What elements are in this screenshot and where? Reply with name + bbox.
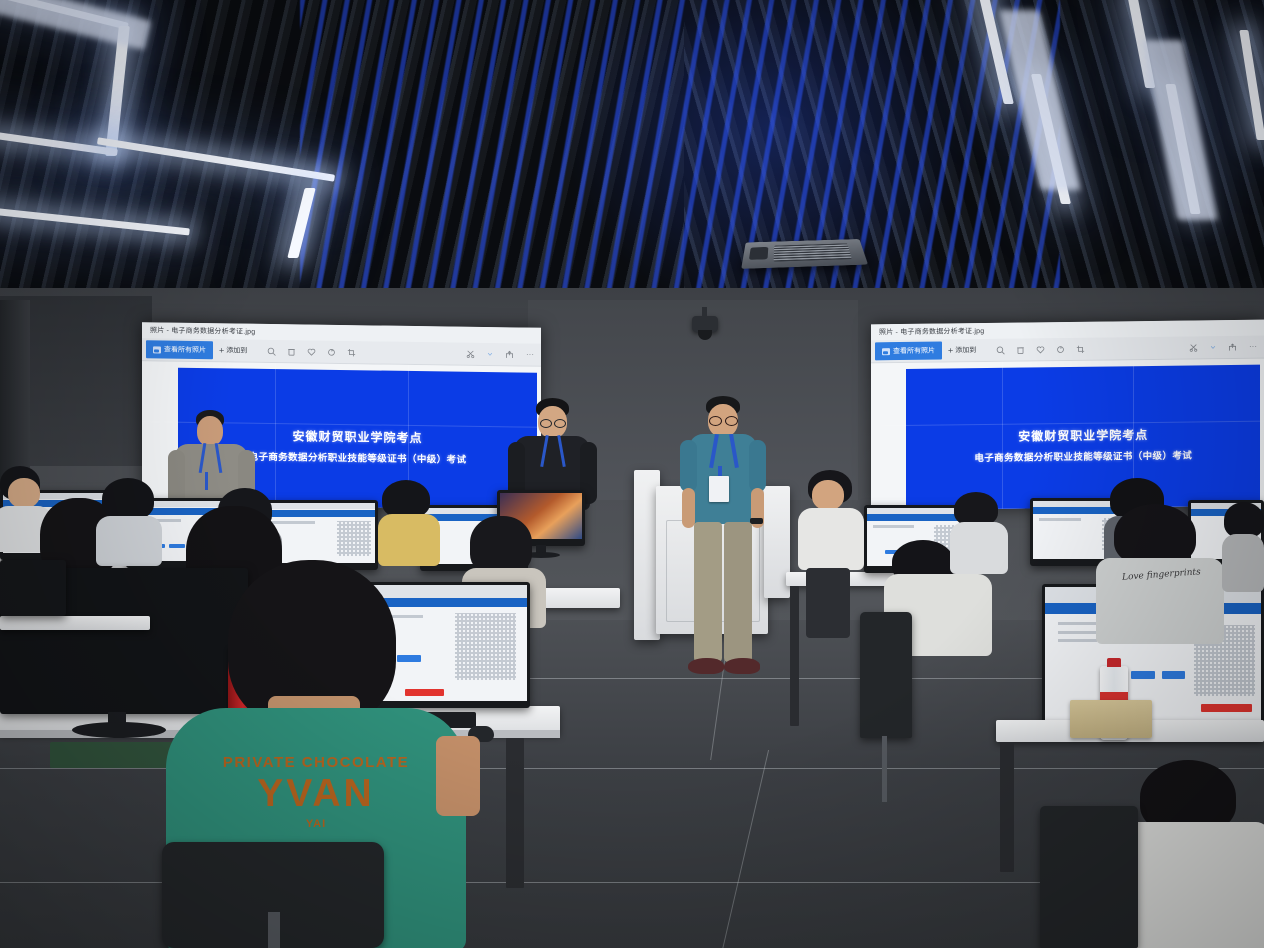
photo-viewer-canvas-right: 安徽财贸职业学院考点 电子商务数据分析职业技能等级证书（中级）考试 bbox=[871, 359, 1264, 511]
toolbar-icon-group-right-wall bbox=[996, 344, 1085, 354]
s3-torso bbox=[96, 516, 162, 566]
view-all-photos-label-right: 查看所有照片 bbox=[893, 346, 935, 357]
s3-hair bbox=[102, 478, 154, 520]
desk-foreground-left-leg bbox=[506, 738, 524, 888]
slide-text-block-right: 安徽财贸职业学院考点 电子商务数据分析职业技能等级证书（中级）考试 bbox=[906, 424, 1260, 464]
chevron-down-icon[interactable] bbox=[487, 351, 493, 357]
proctor3-shoe-right bbox=[724, 658, 760, 674]
exam-room-photo: 照片 - 电子商务数据分析考证.jpg 查看所有照片 + 添加到 bbox=[0, 0, 1264, 948]
student-right-1 bbox=[798, 470, 868, 590]
sr1-head bbox=[812, 480, 844, 510]
add-to-button[interactable]: + 添加到 bbox=[213, 342, 253, 359]
air-conditioner-unit bbox=[741, 239, 868, 269]
edit-scissors-icon[interactable] bbox=[466, 349, 475, 358]
proctor3-forearm-left bbox=[682, 488, 695, 528]
sr7-torso bbox=[1124, 822, 1264, 948]
proctor3-glasses-right bbox=[725, 416, 738, 426]
sr6-torso bbox=[1222, 534, 1264, 592]
zoom-icon-right[interactable] bbox=[996, 345, 1005, 354]
water-bottle-cap bbox=[1107, 658, 1121, 667]
chair-foreground-post bbox=[268, 912, 280, 948]
student-right-7 bbox=[1150, 760, 1264, 948]
sr3-hair bbox=[954, 492, 998, 526]
videowall-seam-rv1 bbox=[1002, 362, 1003, 510]
ac-vent bbox=[749, 247, 768, 260]
photos-icon bbox=[153, 346, 161, 353]
submit-exam-button-rf[interactable] bbox=[1201, 704, 1253, 712]
favorite-heart-icon[interactable] bbox=[307, 347, 316, 356]
answer-grid-3 bbox=[337, 521, 371, 556]
prev-question-button-rf[interactable] bbox=[1131, 671, 1155, 679]
videowall-seam-v1 bbox=[275, 363, 276, 507]
desk-right-foreground-leg bbox=[1000, 742, 1014, 872]
zoom-icon[interactable] bbox=[267, 346, 276, 355]
tee-line-1: PRIVATE CHOCOLATE bbox=[166, 754, 466, 771]
ceiling bbox=[0, 0, 1264, 300]
crop-icon[interactable] bbox=[347, 348, 356, 357]
photo-viewer-title-right: 照片 - 电子商务数据分析考证.jpg bbox=[879, 326, 984, 337]
student-right-5-love-fingerprints: Love fingerprints bbox=[1096, 540, 1224, 670]
proctor3-arm-left bbox=[680, 440, 697, 492]
photos-icon-right bbox=[882, 348, 890, 355]
plus-icon-right: + bbox=[948, 346, 953, 355]
proctor3-leg-right bbox=[724, 522, 752, 662]
view-all-photos-label: 查看所有照片 bbox=[164, 345, 206, 356]
proctor1-head bbox=[197, 416, 223, 446]
view-all-photos-button[interactable]: 查看所有照片 bbox=[146, 340, 213, 359]
sr1-torso bbox=[798, 508, 864, 570]
share-icon-right[interactable] bbox=[1228, 342, 1237, 351]
scr-question-line-r2 bbox=[1039, 518, 1081, 521]
more-ellipsis-icon-right[interactable]: ··· bbox=[1249, 342, 1258, 351]
proctor3-id-badge bbox=[709, 476, 729, 502]
tee-line-2: YVAN bbox=[166, 772, 466, 816]
chair-right-1-post bbox=[882, 736, 887, 802]
scr-question-line-rf2 bbox=[1058, 631, 1097, 634]
edit-scissors-icon-right[interactable] bbox=[1189, 343, 1198, 352]
s5-hair bbox=[382, 480, 430, 518]
proctor3-leg-left bbox=[694, 522, 722, 662]
sr6-hair bbox=[1224, 502, 1264, 538]
view-all-photos-button-right[interactable]: 查看所有照片 bbox=[875, 342, 942, 361]
scr-question-line-rf3 bbox=[1058, 639, 1097, 642]
toolbar-icon-group-right-2: ··· bbox=[1189, 342, 1258, 352]
more-ellipsis-icon[interactable]: ··· bbox=[526, 350, 535, 359]
delete-icon[interactable] bbox=[287, 347, 296, 356]
student-back-left-5 bbox=[378, 480, 444, 560]
tee-line-3: YAI bbox=[166, 818, 466, 830]
proctor3-arm-right bbox=[749, 440, 766, 492]
student-back-left-3 bbox=[96, 478, 166, 558]
proctor-teal-polo bbox=[678, 396, 770, 686]
slide-image-right: 安徽财贸职业学院考点 电子商务数据分析职业技能等级证书（中级）考试 bbox=[906, 365, 1260, 511]
floor-tile-line-v2 bbox=[722, 750, 769, 948]
s5-torso bbox=[378, 514, 440, 566]
next-question-button-rf[interactable] bbox=[1162, 671, 1186, 679]
sr1-leg bbox=[806, 568, 850, 638]
add-to-button-right[interactable]: + 添加到 bbox=[942, 342, 982, 358]
slide-headline-right: 安徽财贸职业学院考点 bbox=[906, 424, 1260, 445]
proctor2-glasses-right bbox=[554, 419, 566, 428]
proctor3-watch bbox=[750, 518, 763, 524]
chair-right-1[interactable] bbox=[860, 612, 912, 738]
scr-question-line-r1 bbox=[873, 525, 914, 528]
desk-left-edge bbox=[0, 616, 150, 630]
fg-arm-right bbox=[436, 736, 480, 816]
add-to-label-right: 添加到 bbox=[955, 345, 976, 355]
student-right-6 bbox=[1222, 502, 1264, 592]
proctor1-lanyard-strap bbox=[205, 472, 208, 490]
toolbar-icon-group-right: ··· bbox=[466, 349, 535, 359]
rotate-icon-right[interactable] bbox=[1056, 345, 1065, 354]
student-right-3 bbox=[950, 492, 1012, 572]
add-to-label: 添加到 bbox=[226, 345, 247, 355]
favorite-heart-icon-right[interactable] bbox=[1036, 345, 1045, 354]
delete-icon-right[interactable] bbox=[1016, 345, 1025, 354]
monitor-left-edge bbox=[0, 560, 66, 616]
desk-right-back-leg bbox=[790, 586, 799, 726]
proctor3-shoe-left bbox=[688, 658, 724, 674]
sr5-hair bbox=[1114, 504, 1196, 566]
slide-subhead-right: 电子商务数据分析职业技能等级证书（中级）考试 bbox=[906, 446, 1260, 464]
chevron-down-icon-right[interactable] bbox=[1210, 344, 1216, 350]
toolbar-icon-group bbox=[267, 346, 356, 356]
proctor2-glasses-left bbox=[540, 419, 552, 428]
rotate-icon[interactable] bbox=[327, 347, 336, 356]
plus-icon: + bbox=[219, 346, 224, 355]
photo-viewer-title: 照片 - 电子商务数据分析考证.jpg bbox=[150, 325, 255, 336]
chair-right-2[interactable] bbox=[1040, 806, 1138, 948]
proctor3-glasses-left bbox=[709, 416, 722, 426]
crop-icon-right[interactable] bbox=[1076, 344, 1085, 353]
share-icon[interactable] bbox=[505, 350, 514, 359]
video-wall-right: 照片 - 电子商务数据分析考证.jpg 查看所有照片 + 添加到 bbox=[871, 320, 1264, 511]
ac-grill bbox=[774, 243, 852, 261]
sr3-torso bbox=[950, 522, 1008, 574]
paper-bag bbox=[1070, 700, 1152, 738]
